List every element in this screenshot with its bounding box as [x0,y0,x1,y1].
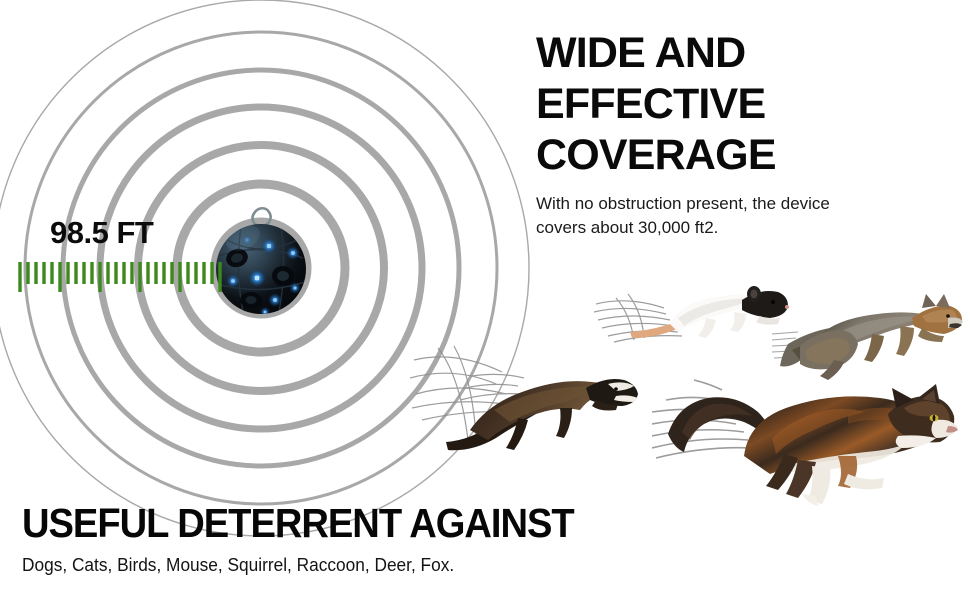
distance-label: 98.5 FT [50,214,153,252]
distance-indicator: 98.5 FT [14,214,254,300]
running-fox [772,288,964,384]
device-led [289,282,301,294]
fox-body [780,294,963,380]
device-led [261,238,277,254]
headline-line-2: EFFECTIVE [536,79,956,130]
headline-body-text: With no obstruction present, the device … [536,192,836,240]
headline-block: WIDE AND EFFECTIVE COVERAGE With no obst… [536,28,956,240]
distance-ruler [18,260,228,294]
headline-line-1: WIDE AND [536,28,956,79]
running-cat [652,378,962,510]
rat-body [630,286,789,338]
infographic-canvas: 98.5 FT [0,0,970,600]
cat-body [668,384,958,506]
footer-subtext: Dogs, Cats, Birds, Mouse, Squirrel, Racc… [22,553,752,577]
footer-block: USEFUL DETERRENT AGAINST Dogs, Cats, Bir… [22,500,782,577]
device-led [286,246,300,260]
weasel-body [446,379,638,450]
device-led [260,307,271,318]
footer-heading: USEFUL DETERRENT AGAINST [22,500,729,546]
headline-line-3: COVERAGE [536,130,956,181]
running-rat [594,278,790,364]
device-led [268,293,282,307]
